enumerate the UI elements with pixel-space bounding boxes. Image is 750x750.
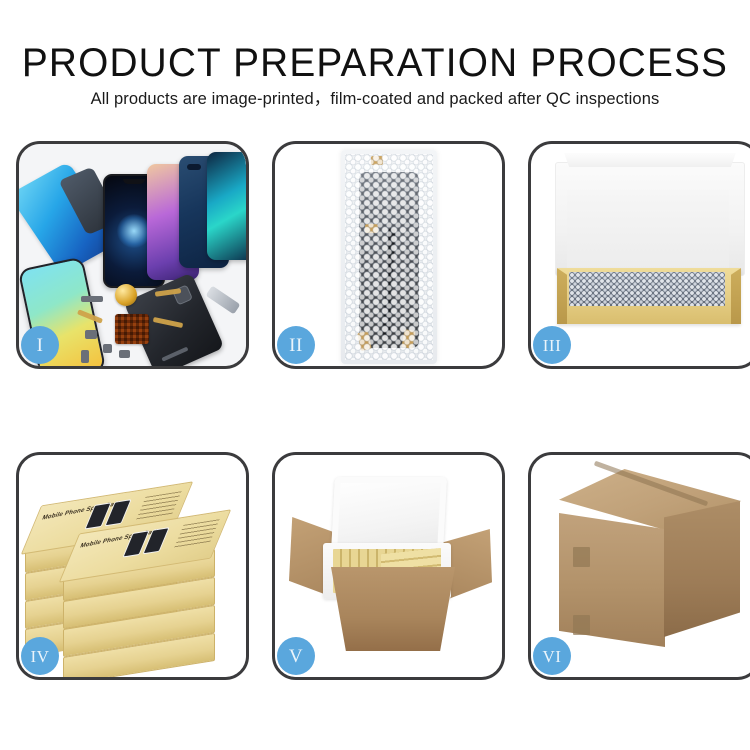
process-step-3: III	[528, 141, 750, 369]
teal-phone-icon	[207, 152, 246, 260]
chip-icon-1	[81, 296, 103, 302]
step-2-numeral: II	[289, 336, 303, 355]
carton-tape-patch-bottom-icon	[573, 615, 590, 635]
gold-component-icon	[115, 284, 137, 306]
step-3-badge: III	[533, 326, 571, 364]
connector-grid-icon	[115, 314, 149, 344]
step-6-badge: VI	[533, 637, 571, 675]
foam-box-lid-icon	[331, 477, 447, 553]
process-step-4: Mobile Phone Spare Parts Mobile Phone Sp…	[16, 452, 249, 680]
step-1-numeral: I	[37, 336, 44, 355]
process-step-grid: I II	[0, 0, 750, 750]
bubble-wrap-bag-icon	[341, 150, 437, 364]
bubble-texture	[345, 154, 433, 360]
step-5-numeral: V	[289, 647, 303, 666]
step-4-badge: IV	[21, 637, 59, 675]
process-step-6: VI	[528, 452, 750, 680]
retail-box-stack: Mobile Phone Spare Parts Mobile Phone Sp…	[25, 469, 245, 669]
step-3-numeral: III	[543, 337, 561, 354]
chip-icon-2	[85, 330, 97, 339]
box-spec-lines-rear	[136, 491, 182, 520]
process-step-5: V	[272, 452, 505, 680]
box-spec-lines-front	[174, 519, 220, 548]
step-4-numeral: IV	[31, 648, 50, 665]
step-6-numeral: VI	[543, 648, 562, 665]
product-preparation-infographic: PRODUCT PREPARATION PROCESS All products…	[0, 0, 750, 750]
bubble-wrap-fill-icon	[569, 272, 725, 306]
carton-tape-patch-top-icon	[573, 547, 590, 567]
chip-icon-3	[103, 344, 112, 353]
chip-icon-4	[119, 350, 130, 358]
step-1-badge: I	[21, 326, 59, 364]
process-step-2: II	[272, 141, 505, 369]
chip-icon-5	[81, 350, 89, 363]
step-2-badge: II	[277, 326, 315, 364]
process-step-1: I	[16, 141, 249, 369]
white-box-interior-icon	[567, 190, 729, 272]
step-5-badge: V	[277, 637, 315, 675]
carton-body-icon	[331, 567, 455, 651]
